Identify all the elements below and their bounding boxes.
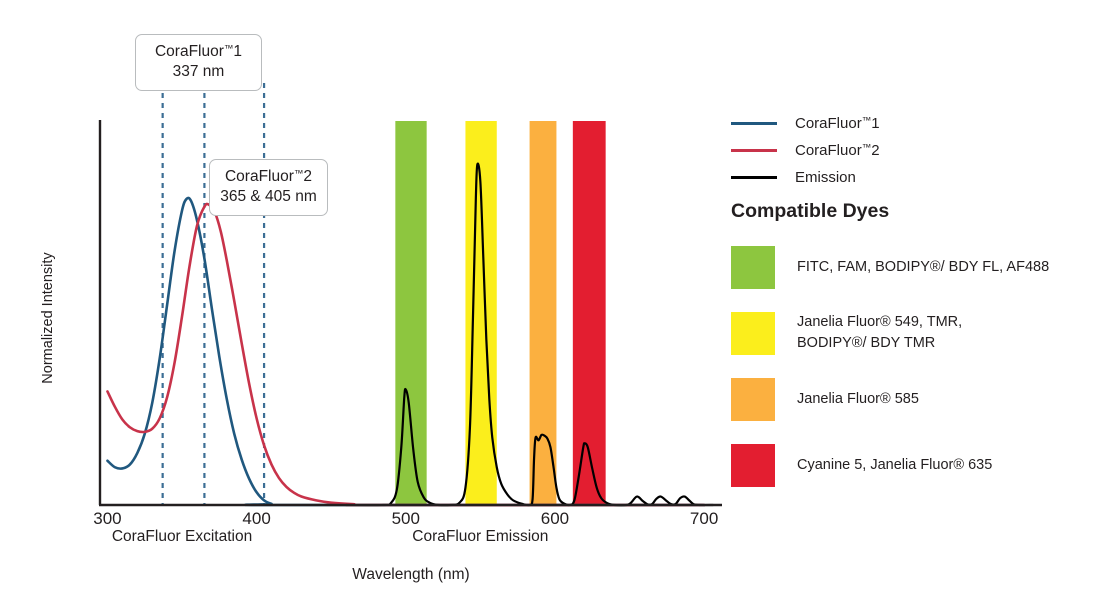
dye-label: FITC, FAM, BODIPY®/ BDY FL, AF488 (797, 257, 1049, 278)
callout-corafluor1-line2: 337 nm (146, 62, 251, 82)
legend-label: Emission (795, 169, 856, 186)
legend-label-number: 1 (871, 115, 879, 132)
x-axis-section-excitation: CoraFluor Excitation (72, 528, 292, 546)
dye-label: Janelia Fluor® 585 (797, 389, 919, 410)
dye-color-swatch (731, 444, 775, 487)
legend-label-base: Emission (795, 169, 856, 186)
callout-corafluor2-line1: CoraFluor™2 (220, 167, 317, 187)
dye-row-3: Cyanine 5, Janelia Fluor® 635 (731, 432, 1103, 498)
legend-row-1: CoraFluor™2 (731, 137, 1101, 164)
callout-corafluor1: CoraFluor™1 337 nm (135, 34, 262, 91)
dye-color-swatch (731, 246, 775, 289)
dye-color-swatch (731, 378, 775, 421)
dye-row-1: Janelia Fluor® 549, TMR, BODIPY®/ BDY TM… (731, 300, 1103, 366)
x-tick-600: 600 (525, 509, 585, 529)
x-tick-300: 300 (77, 509, 137, 529)
compatible-dyes-heading: Compatible Dyes (731, 200, 889, 223)
trademark-glyph: ™ (862, 143, 872, 154)
x-tick-400: 400 (227, 509, 287, 529)
dye-color-swatch (731, 312, 775, 355)
legend-label: CoraFluor™2 (795, 142, 880, 159)
legend-label-number: 2 (871, 142, 879, 159)
callout-corafluor2: CoraFluor™2 365 & 405 nm (209, 159, 328, 216)
spectra-figure: CoraFluor™1 337 nm CoraFluor™2 365 & 405… (0, 0, 1110, 612)
trademark-glyph: ™ (862, 116, 872, 127)
callout-corafluor2-line2: 365 & 405 nm (220, 187, 317, 207)
legend-line-swatch (731, 122, 777, 125)
legend-line-swatch (731, 149, 777, 152)
dye-label: Cyanine 5, Janelia Fluor® 635 (797, 455, 992, 476)
legend-row-0: CoraFluor™1 (731, 110, 1101, 137)
legend-label-base: CoraFluor (795, 115, 862, 132)
dye-row-2: Janelia Fluor® 585 (731, 366, 1103, 432)
trademark-glyph: ™ (224, 44, 234, 55)
dye-row-0: FITC, FAM, BODIPY®/ BDY FL, AF488 (731, 234, 1103, 300)
x-tick-700: 700 (674, 509, 734, 529)
series-legend: CoraFluor™1CoraFluor™2Emission (731, 110, 1101, 191)
red-band (573, 121, 606, 505)
legend-label-base: CoraFluor (795, 142, 862, 159)
x-axis-section-emission: CoraFluor Emission (370, 528, 590, 546)
legend-label: CoraFluor™1 (795, 115, 880, 132)
y-axis-title: Normalized Intensity (40, 238, 56, 398)
callout-corafluor1-line1: CoraFluor™1 (146, 42, 251, 62)
trademark-glyph: ™ (294, 169, 304, 180)
x-tick-500: 500 (376, 509, 436, 529)
compatible-dyes-list: FITC, FAM, BODIPY®/ BDY FL, AF488Janelia… (731, 234, 1103, 498)
green-band (395, 121, 426, 505)
x-axis-title: Wavelength (nm) (0, 566, 822, 584)
legend-line-swatch (731, 176, 777, 179)
dye-label: Janelia Fluor® 549, TMR, BODIPY®/ BDY TM… (797, 312, 962, 353)
legend-row-2: Emission (731, 164, 1101, 191)
